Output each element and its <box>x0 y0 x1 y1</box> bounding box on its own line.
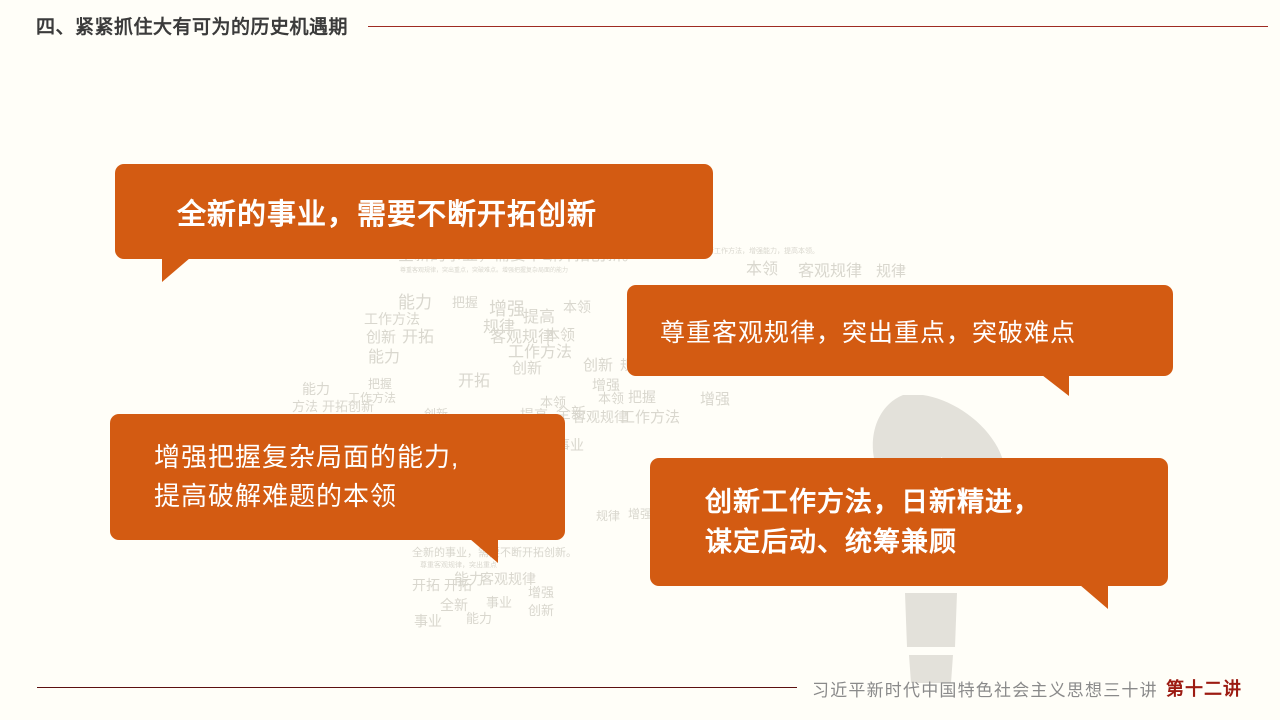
word-cloud-word: 创新 <box>583 358 613 373</box>
callout-bubble-1[interactable]: 全新的事业，需要不断开拓创新 <box>115 164 713 259</box>
callout-bubble-2-tail <box>1042 375 1069 396</box>
word-cloud-word: 开拓 <box>458 374 490 390</box>
word-cloud-word: 尊重客观规律，突出重点，突破难点。增强把握复杂局面的能力 <box>400 268 568 274</box>
word-cloud-word: 规律 <box>483 320 515 336</box>
footer-lecture-number: 第十二讲 <box>1166 675 1242 701</box>
word-cloud-word: 开拓创新 <box>322 400 374 413</box>
word-cloud-word: 客观规律 <box>490 330 554 346</box>
word-cloud-word: 本领 <box>545 328 575 343</box>
word-cloud-word: 增强 <box>700 392 730 407</box>
word-cloud-word: 开拓 开拓 <box>412 578 472 592</box>
word-cloud-word: 创新工作方法，增强能力，提高本领。 <box>700 248 819 255</box>
word-cloud-word: 创新 <box>512 361 542 376</box>
word-cloud-word: 创新 <box>366 330 396 345</box>
word-cloud-word: 能力 <box>466 612 492 625</box>
callout-bubble-3-text: 增强把握复杂局面的能力, 提高破解难题的本领 <box>154 438 459 516</box>
word-cloud-word: 事业 <box>486 596 512 609</box>
word-cloud-word: 工作方法 <box>364 312 420 326</box>
callout-bubble-2-text: 尊重客观规律，突出重点，突破难点 <box>660 313 1076 349</box>
word-cloud-word: 增强 <box>628 508 652 520</box>
callout-bubble-4-text: 创新工作方法，日新精进， 谋定后动、统筹兼顾 <box>705 482 1041 563</box>
word-cloud-word: 事业 <box>414 614 442 628</box>
header-divider-rule <box>368 26 1268 27</box>
word-cloud-word: 能力 <box>302 382 330 396</box>
word-cloud-word: 能力 <box>454 572 484 587</box>
word-cloud-word: 工作方法 <box>620 410 680 425</box>
footer-divider-rule <box>37 687 797 688</box>
word-cloud-word: 尊重客观规律，突出重点 <box>420 562 497 569</box>
word-cloud-word: 能力 <box>398 294 432 311</box>
word-cloud-word: 客观规律 <box>572 410 628 424</box>
word-cloud-word: 工作方法 <box>508 345 572 361</box>
word-cloud-word: 增强 <box>528 586 554 599</box>
word-cloud-word: 把握 <box>628 390 656 404</box>
callout-bubble-4[interactable]: 创新工作方法，日新精进， 谋定后动、统筹兼顾 <box>650 458 1168 586</box>
word-cloud-word: 客观规律 <box>798 264 862 280</box>
word-cloud-word: 方法 <box>292 400 318 413</box>
word-cloud-word: 工作方法 <box>348 392 396 404</box>
slide-header: 四、紧紧抓住大有可为的历史机遇期 <box>0 0 1280 52</box>
slide-footer: 习近平新时代中国特色社会主义思想三十讲 第十二讲 <box>0 660 1280 720</box>
word-cloud-word: 规律 <box>596 510 620 522</box>
footer-series-title: 习近平新时代中国特色社会主义思想三十讲 <box>812 676 1158 701</box>
word-cloud-word: 创新 <box>528 604 554 617</box>
callout-bubble-3[interactable]: 增强把握复杂局面的能力, 提高破解难题的本领 <box>110 414 565 540</box>
word-cloud-word: 开拓 <box>402 330 434 346</box>
word-cloud-word: 能力 <box>368 350 400 366</box>
word-cloud-word: 本领 <box>563 300 591 314</box>
callout-bubble-1-tail <box>162 258 190 282</box>
word-cloud-word: 本领 <box>598 392 624 405</box>
word-cloud-word: 客观规律 <box>480 572 536 586</box>
callout-bubble-1-text: 全新的事业，需要不断开拓创新 <box>177 191 597 233</box>
word-cloud-word: 增强 <box>592 378 620 392</box>
word-cloud-word: 全新 <box>440 598 468 612</box>
page-title: 四、紧紧抓住大有可为的历史机遇期 <box>36 12 348 39</box>
word-cloud-word: 本领 <box>746 262 778 278</box>
callout-bubble-3-tail <box>470 539 498 563</box>
word-cloud-word: 提高 <box>523 310 555 326</box>
word-cloud-word: 增强 <box>489 300 525 318</box>
callout-bubble-2[interactable]: 尊重客观规律，突出重点，突破难点 <box>627 285 1173 376</box>
callout-bubble-4-tail <box>1080 585 1108 609</box>
word-cloud-word: 把握 <box>368 378 392 390</box>
slide-canvas: 全新 事业尊重客观规律，创新工作方法，增强能力，提高本领。全新的事业，需要不断开… <box>0 0 1280 720</box>
word-cloud-word: 把握 <box>452 296 478 309</box>
word-cloud-word: 本领 <box>540 396 566 409</box>
word-cloud-word: 规律 <box>876 264 906 279</box>
